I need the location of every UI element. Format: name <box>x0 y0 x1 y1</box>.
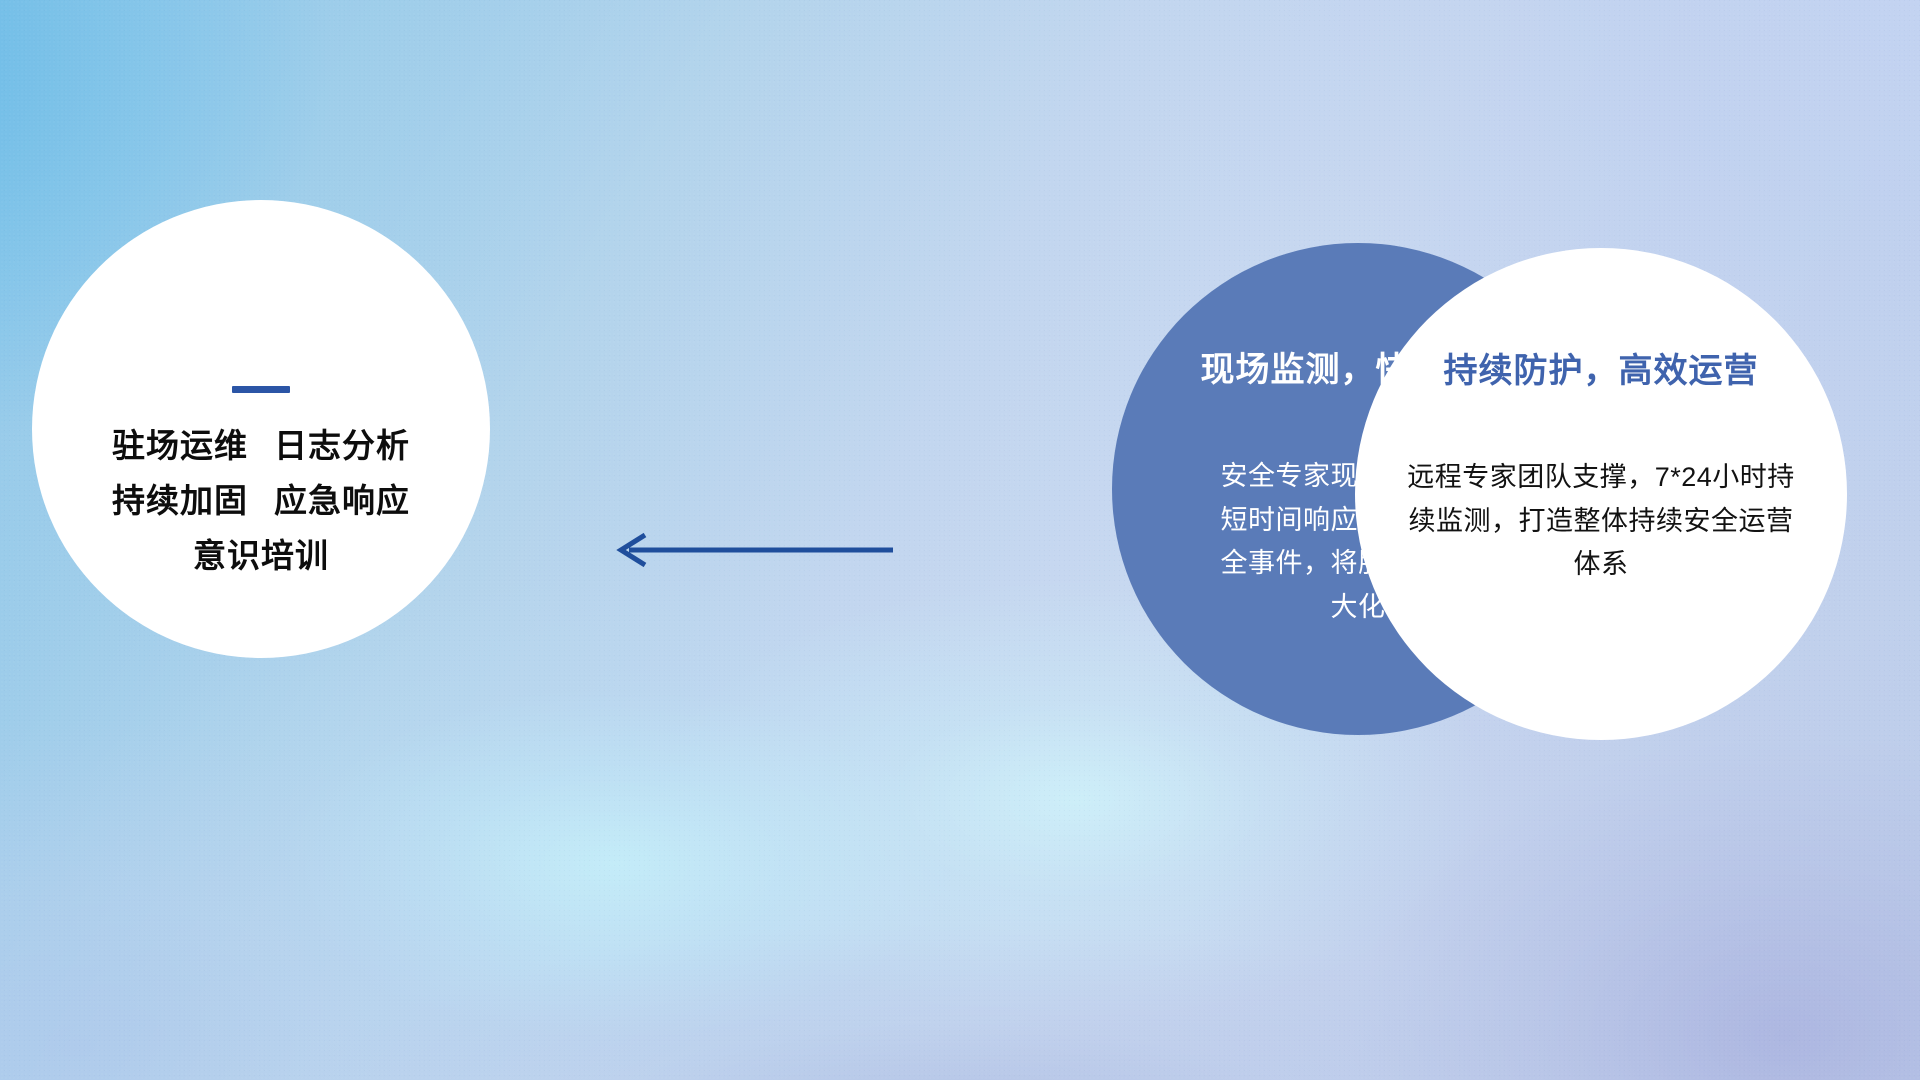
slide-canvas: 驻场运维日志分析 持续加固应急响应 意识培训 现场监测，快速响应 安全专家现场保… <box>0 0 1920 1080</box>
capability-row-2: 持续加固应急响应 <box>112 484 410 517</box>
capability-item-yingjixiangying: 应急响应 <box>274 482 410 519</box>
card-continuous-protection-title: 持续防护，高效运营 <box>1444 354 1759 388</box>
capability-row-3: 意识培训 <box>193 539 329 572</box>
capability-circle: 驻场运维日志分析 持续加固应急响应 意识培训 <box>32 200 490 658</box>
capability-item-chixujiagu: 持续加固 <box>112 482 248 519</box>
capability-list: 驻场运维日志分析 持续加固应急响应 意识培训 <box>112 429 410 572</box>
capability-item-zhuchangyunwei: 驻场运维 <box>112 427 248 464</box>
capability-item-yishipeixun: 意识培训 <box>193 537 329 574</box>
capability-row-1: 驻场运维日志分析 <box>112 429 410 462</box>
capability-item-rizhifenxi: 日志分析 <box>274 427 410 464</box>
card-continuous-protection-body: 远程专家团队支撑，7*24小时持续监测，打造整体持续安全运营体系 <box>1401 456 1801 587</box>
card-continuous-protection: 持续防护，高效运营 远程专家团队支撑，7*24小时持续监测，打造整体持续安全运营… <box>1355 248 1847 740</box>
divider-dash-icon <box>232 386 290 393</box>
arrow-left-icon <box>605 525 895 575</box>
flow-arrow-left <box>605 525 895 575</box>
